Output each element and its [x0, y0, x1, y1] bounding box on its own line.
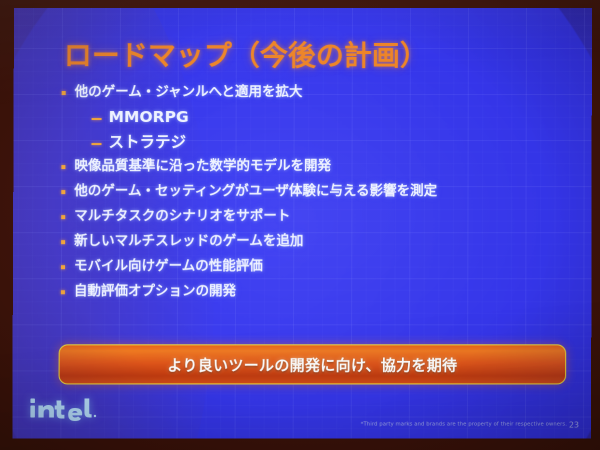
list-item-label: 自動評価オプションの開発 — [74, 281, 236, 302]
list-item: 映像品質基準に沿った数学的モデルを開発 — [61, 156, 581, 177]
dash-bullet-icon — [91, 143, 101, 145]
list-item: 自動評価オプションの開発 — [61, 281, 582, 302]
list-item: 他のゲーム・セッティングがユーザ体験に与える影響を測定 — [61, 181, 581, 202]
list-item-label: 他のゲーム・ジャンルへと適用を拡大 — [75, 82, 303, 103]
bullet-list: 他のゲーム・ジャンルへと適用を拡大 MMORPG ストラテジ 映像品質基準に沿っ… — [61, 82, 582, 306]
list-item-label: MMORPG — [109, 107, 189, 129]
call-to-action-banner: より良いツールの開発に向け、協力を期待 — [59, 344, 567, 384]
square-bullet-icon — [61, 265, 65, 269]
projector-photo-frame: ロードマップ（今後の計画） 他のゲーム・ジャンルへと適用を拡大 MMORPG ス… — [0, 0, 600, 450]
slide-page-number: 23 — [569, 421, 579, 430]
legal-disclaimer: *Third party marks and brands are the pr… — [361, 422, 567, 428]
list-item: ストラテジ — [61, 132, 581, 154]
square-bullet-icon — [61, 190, 65, 194]
square-bullet-icon — [61, 290, 65, 294]
list-item: モバイル向けゲームの性能評価 — [61, 256, 581, 277]
presentation-slide: ロードマップ（今後の計画） 他のゲーム・ジャンルへと適用を拡大 MMORPG ス… — [12, 8, 592, 439]
list-item-label: ストラテジ — [108, 132, 186, 154]
square-bullet-icon — [62, 91, 66, 95]
intel-logo — [28, 392, 102, 422]
list-item: 他のゲーム・ジャンルへと適用を拡大 — [62, 82, 582, 103]
square-bullet-icon — [61, 240, 65, 244]
square-bullet-icon — [61, 165, 65, 169]
slide-title: ロードマップ（今後の計画） — [64, 34, 428, 74]
list-item: 新しいマルチスレッドのゲームを追加 — [61, 231, 581, 252]
list-item-label: 他のゲーム・セッティングがユーザ体験に与える影響を測定 — [74, 181, 437, 202]
list-item-label: 新しいマルチスレッドのゲームを追加 — [74, 231, 303, 252]
square-bullet-icon — [61, 215, 65, 219]
slide-content: ロードマップ（今後の計画） 他のゲーム・ジャンルへと適用を拡大 MMORPG ス… — [12, 8, 592, 439]
dash-bullet-icon — [92, 118, 102, 120]
list-item-label: 映像品質基準に沿った数学的モデルを開発 — [74, 156, 331, 177]
list-item: マルチタスクのシナリオをサポート — [61, 206, 581, 227]
list-item-label: モバイル向けゲームの性能評価 — [74, 256, 263, 277]
list-item-label: マルチタスクのシナリオをサポート — [74, 206, 290, 227]
call-to-action-label: より良いツールの開発に向け、協力を期待 — [167, 354, 457, 375]
list-item: MMORPG — [62, 107, 582, 129]
